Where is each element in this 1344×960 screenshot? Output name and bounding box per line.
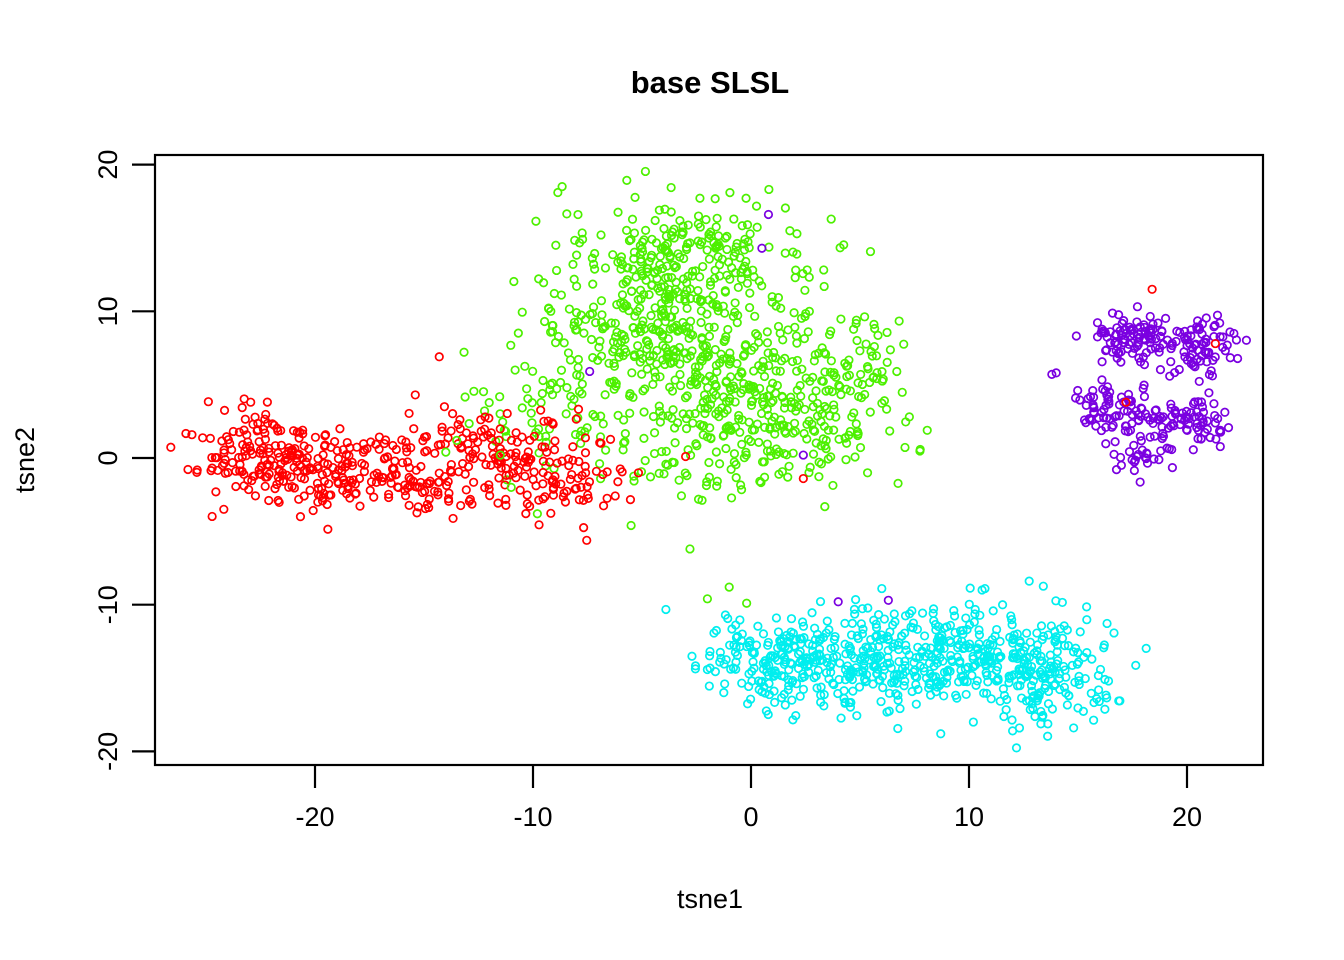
y-tick-label: 20 bbox=[93, 150, 123, 180]
plot-svg: base SLSL -20-1001020 -20-1001020 tsne1 … bbox=[0, 0, 1344, 960]
x-axis-title: tsne1 bbox=[677, 884, 743, 914]
y-tick-label: -10 bbox=[93, 585, 123, 624]
y-axis-title: tsne2 bbox=[10, 427, 40, 493]
y-tick-label: 10 bbox=[93, 296, 123, 326]
y-tick-label: 0 bbox=[93, 450, 123, 465]
y-tick-label: -20 bbox=[93, 732, 123, 771]
x-tick-label: -10 bbox=[513, 802, 552, 832]
x-tick-label: 10 bbox=[954, 802, 984, 832]
tsne-scatter-plot: base SLSL -20-1001020 -20-1001020 tsne1 … bbox=[0, 0, 1344, 960]
x-tick-label: -20 bbox=[295, 802, 334, 832]
x-tick-label: 0 bbox=[743, 802, 758, 832]
x-tick-label: 20 bbox=[1172, 802, 1202, 832]
page-title: base SLSL bbox=[631, 65, 790, 100]
